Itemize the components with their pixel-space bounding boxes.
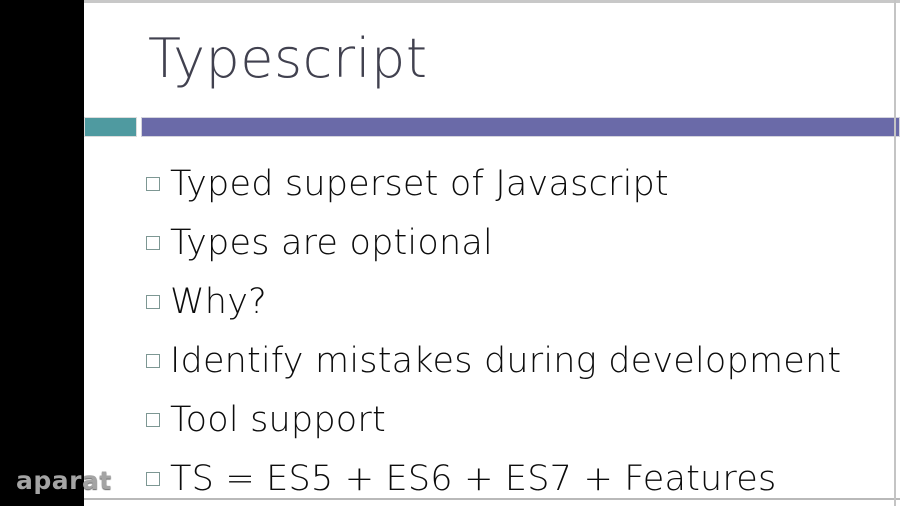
slide-bottom-border	[84, 498, 900, 500]
list-item: Typed superset of Javascript	[146, 154, 896, 213]
square-bullet-icon	[146, 354, 160, 368]
list-item: Types are optional	[146, 213, 896, 272]
square-bullet-icon	[146, 295, 160, 309]
square-bullet-icon	[146, 472, 160, 486]
slide-bullet-list: Typed superset of Javascript Types are o…	[146, 154, 896, 506]
accent-bar-purple	[141, 117, 900, 137]
square-bullet-icon	[146, 413, 160, 427]
list-item-label: Types are optional	[170, 223, 493, 263]
list-item-label: Identify mistakes during development	[170, 341, 841, 381]
list-item: Tool support	[146, 390, 896, 449]
slide-top-border	[84, 0, 900, 3]
presentation-slide: Typescript Typed superset of Javascript …	[84, 0, 900, 506]
list-item-label: Typed superset of Javascript	[170, 164, 669, 204]
list-item: Why?	[146, 272, 896, 331]
list-item-label: TS = ES5 + ES6 + ES7 + Features	[170, 459, 776, 499]
square-bullet-icon	[146, 177, 160, 191]
slide-title: Typescript	[148, 28, 428, 90]
aparat-watermark: aparat	[16, 466, 112, 495]
list-item-label: Why?	[170, 282, 267, 322]
accent-square-teal	[84, 117, 137, 137]
square-bullet-icon	[146, 236, 160, 250]
list-item: Identify mistakes during development	[146, 331, 896, 390]
letterbox-left-bar	[0, 0, 84, 506]
slide-right-border	[894, 0, 896, 506]
video-player-frame: aparat Typescript Typed superset of Java…	[0, 0, 900, 506]
list-item-label: Tool support	[170, 400, 386, 440]
